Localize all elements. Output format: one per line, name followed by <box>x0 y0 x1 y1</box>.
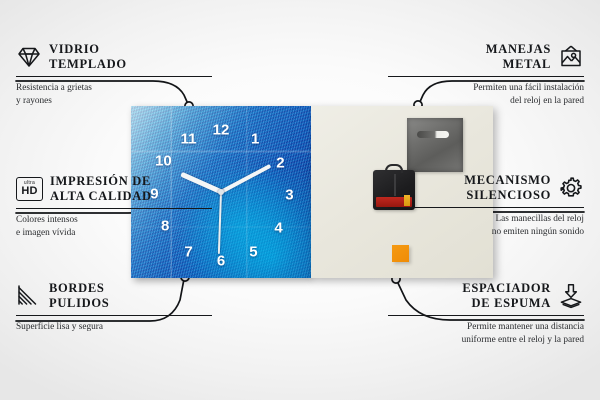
callout-rule <box>388 207 584 209</box>
infographic-stage: 12 1 2 3 4 5 6 7 8 9 10 11 <box>0 0 600 400</box>
callout-title-line-1: BORDES <box>49 281 109 296</box>
hanger-keyhole-slot <box>417 131 449 138</box>
callout-title-line-2: METAL <box>486 57 551 72</box>
callout-description-line-2: del reloj en la pared <box>388 95 584 107</box>
callout-rule <box>16 315 212 317</box>
callout-description-line-2: e imagen vívida <box>16 227 212 239</box>
polished-edge-icon <box>16 283 42 309</box>
callout-title-line-1: ESPACIADOR <box>462 281 551 296</box>
callout-rule <box>388 76 584 78</box>
callout-rule <box>388 315 584 317</box>
gear-icon <box>558 175 584 201</box>
callout-title-line-1: IMPRESIÓN DE <box>50 174 152 189</box>
clock-numeral-4: 4 <box>274 221 282 236</box>
callout-title-line-1: VIDRIO <box>49 42 127 57</box>
callout-description-line-2: y rayones <box>16 95 212 107</box>
callout-title-line-2: ALTA CALIDAD <box>50 189 152 204</box>
hd-badge-hd-text: HD <box>21 186 37 197</box>
diamond-icon <box>16 44 42 70</box>
callout-bordes-pulidos: BORDES PULIDOS Superficie lisa y segura <box>16 281 212 334</box>
callout-description-line-1: Colores intensos <box>16 214 212 226</box>
clock-numeral-1: 1 <box>251 131 259 146</box>
callout-title-line-2: SILENCIOSO <box>464 188 551 203</box>
clock-numeral-2: 2 <box>276 155 284 170</box>
clock-numeral-3: 3 <box>285 188 293 203</box>
callout-description-line-2: uniforme entre el reloj y la pared <box>388 334 584 346</box>
callout-impresion-alta-calidad: ultra HD IMPRESIÓN DE ALTA CALIDAD Color… <box>16 174 212 239</box>
callout-title-line-2: DE ESPUMA <box>462 296 551 311</box>
callout-rule <box>16 76 212 78</box>
callout-title-line-1: MECANISMO <box>464 173 551 188</box>
callout-manejas-metal: MANEJAS METAL Permiten una fácil instala… <box>388 42 584 107</box>
callout-espaciador-de-espuma: ESPACIADOR DE ESPUMA Permite mantener un… <box>388 281 584 346</box>
callout-mecanismo-silencioso: MECANISMO SILENCIOSO Las manecillas del … <box>388 173 584 238</box>
clock-numeral-7: 7 <box>184 245 192 260</box>
callout-vidrio-templado: VIDRIO TEMPLADO Resistencia a grietas y … <box>16 42 212 107</box>
callout-description-line-1: Resistencia a grietas <box>16 82 212 94</box>
foam-spacer-pad <box>392 245 409 262</box>
callout-description-line-1: Permite mantener una distancia <box>388 321 584 333</box>
metal-hanger-plate <box>407 118 463 172</box>
callout-description-line-2: no emiten ningún sonido <box>388 226 584 238</box>
clock-numeral-11: 11 <box>181 131 197 146</box>
clock-center-cap <box>218 189 224 195</box>
callout-description-line-1: Permiten una fácil instalación <box>388 82 584 94</box>
clock-numeral-10: 10 <box>155 154 172 169</box>
callout-title-line-1: MANEJAS <box>486 42 551 57</box>
callout-rule <box>16 208 212 210</box>
callout-description-line-1: Las manecillas del reloj <box>388 213 584 225</box>
clock-numeral-6: 6 <box>217 253 225 268</box>
callout-title-line-2: PULIDOS <box>49 296 109 311</box>
clock-numeral-12: 12 <box>213 123 230 138</box>
callout-description-line-1: Superficie lisa y segura <box>16 321 212 333</box>
press-down-layers-icon <box>558 283 584 309</box>
mechanism-hanging-loop <box>385 164 403 173</box>
callout-title-line-2: TEMPLADO <box>49 57 127 72</box>
hanging-picture-frame-icon <box>558 44 584 70</box>
clock-numeral-5: 5 <box>249 245 257 260</box>
ultra-hd-badge-icon: ultra HD <box>16 177 43 201</box>
